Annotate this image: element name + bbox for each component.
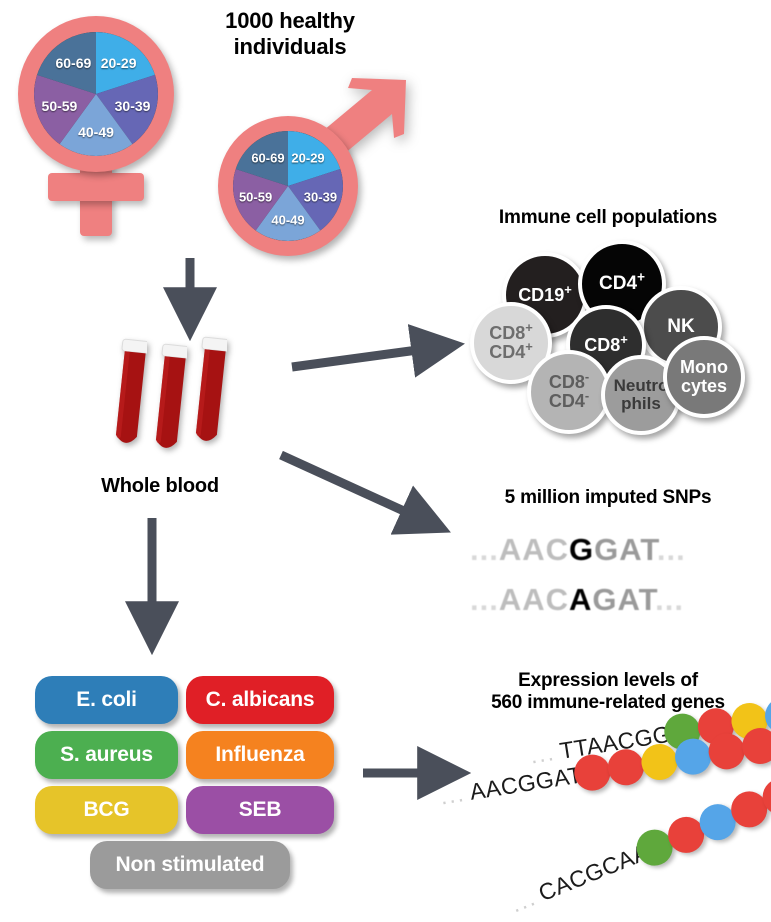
- strand-lead-ellipsis: ...: [438, 780, 467, 811]
- strand-sequence-text: AACGGAT: [468, 761, 584, 805]
- strand-lead-ellipsis: ...: [507, 884, 540, 918]
- strand-sequence-text: CACGCAA: [535, 838, 653, 907]
- immune-cell-label: CD8+CD4+: [489, 324, 533, 362]
- immune-cell-label: CD8+: [584, 336, 628, 355]
- diagram-canvas: 20-2930-3940-4950-5960-69 20-2930-3940-4…: [0, 0, 771, 922]
- immune-cell-monocytes: Monocytes: [663, 336, 745, 418]
- immune-cell-label: Neutrophils: [614, 377, 669, 413]
- immune-cell-label: CD4+: [599, 274, 645, 294]
- immune-cell-label: CD19+: [518, 286, 572, 305]
- immune-cell-label: NK: [667, 317, 694, 337]
- immune-cell-cd8-cd4-: CD8-CD4-: [527, 350, 611, 434]
- immune-cell-label: CD8-CD4-: [549, 373, 589, 411]
- immune-cell-label: Monocytes: [680, 358, 728, 396]
- expression-strand-group: ...TTAACGG...AACGGAT...CACGCAA: [0, 0, 771, 922]
